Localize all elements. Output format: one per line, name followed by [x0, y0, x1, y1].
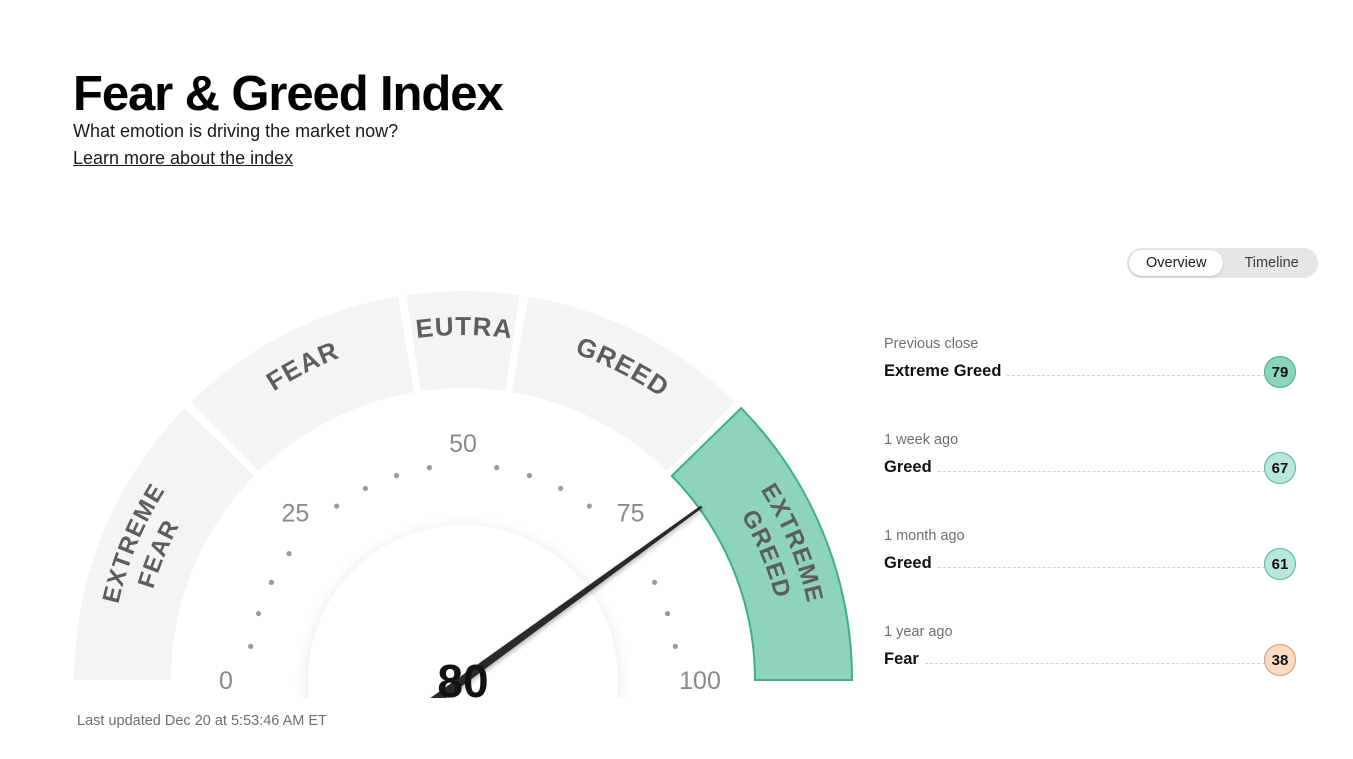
gauge-svg: 0255075100 EXTREMEFEARFEARNEUTRALGREEDEX… — [0, 238, 880, 698]
fear-greed-page: Fear & Greed Index What emotion is drivi… — [0, 0, 1353, 759]
gauge-value-group: 80 — [437, 655, 488, 698]
gauge-minor-tick — [527, 473, 532, 478]
gauge-segment-label-neutral: NEUTRAL — [0, 238, 515, 344]
toggle-option-overview[interactable]: Overview — [1129, 250, 1223, 276]
history-leader-dots — [1007, 374, 1290, 376]
gauge-minor-tick — [248, 644, 253, 649]
gauge-segment-fear — [191, 297, 414, 472]
history-panel: Previous closeExtreme Greed791 week agoG… — [884, 334, 1296, 718]
gauge-minor-tick — [394, 473, 399, 478]
gauge-tick-label-25: 25 — [282, 499, 310, 527]
history-period: 1 year ago — [884, 622, 1296, 641]
history-score-badge: 67 — [1264, 452, 1296, 484]
gauge-minor-tick — [665, 611, 670, 616]
gauge-tick-label-75: 75 — [617, 499, 645, 527]
gauge-minor-tick — [673, 644, 678, 649]
gauge-minor-tick — [558, 486, 563, 491]
gauge-minor-tick — [363, 486, 368, 491]
history-row: 1 year agoFear38 — [884, 622, 1296, 718]
history-sentiment: Greed — [884, 552, 932, 574]
gauge-minor-tick — [652, 580, 657, 585]
history-leader-dots — [938, 566, 1290, 568]
history-leader-dots — [925, 662, 1290, 664]
history-period: Previous close — [884, 334, 1296, 353]
history-period: 1 week ago — [884, 430, 1296, 449]
history-score-badge: 79 — [1264, 356, 1296, 388]
gauge-segment-greed — [512, 297, 735, 472]
history-score-badge: 38 — [1264, 644, 1296, 676]
view-toggle[interactable]: OverviewTimeline — [1127, 248, 1318, 278]
toggle-option-timeline[interactable]: Timeline — [1227, 250, 1315, 276]
gauge-tick-label-50: 50 — [449, 430, 477, 458]
history-row: 1 week agoGreed67 — [884, 430, 1296, 526]
history-period: 1 month ago — [884, 526, 1296, 545]
learn-more-link[interactable]: Learn more about the index — [73, 146, 293, 170]
gauge-minor-tick — [494, 465, 499, 470]
history-row: 1 month agoGreed61 — [884, 526, 1296, 622]
history-leader-dots — [938, 470, 1290, 472]
history-sentiment: Fear — [884, 648, 919, 670]
gauge-minor-tick — [587, 503, 592, 508]
gauge-tick-label-0: 0 — [219, 667, 233, 695]
gauge-minor-tick — [334, 503, 339, 508]
history-row: Previous closeExtreme Greed79 — [884, 334, 1296, 430]
gauge-minor-tick — [427, 465, 432, 470]
gauge-tick-label-100: 100 — [679, 667, 721, 695]
gauge-minor-tick — [286, 551, 291, 556]
gauge-minor-tick — [256, 611, 261, 616]
history-score-badge: 61 — [1264, 548, 1296, 580]
gauge-minor-tick — [269, 580, 274, 585]
gauge-chart: 0255075100 EXTREMEFEARFEARNEUTRALGREEDEX… — [0, 238, 880, 698]
page-title: Fear & Greed Index — [73, 63, 503, 125]
page-subtitle: What emotion is driving the market now? — [73, 119, 398, 143]
last-updated: Last updated Dec 20 at 5:53:46 AM ET — [77, 713, 327, 729]
history-sentiment: Greed — [884, 456, 932, 478]
gauge-value: 80 — [437, 655, 488, 698]
history-sentiment: Extreme Greed — [884, 360, 1001, 382]
